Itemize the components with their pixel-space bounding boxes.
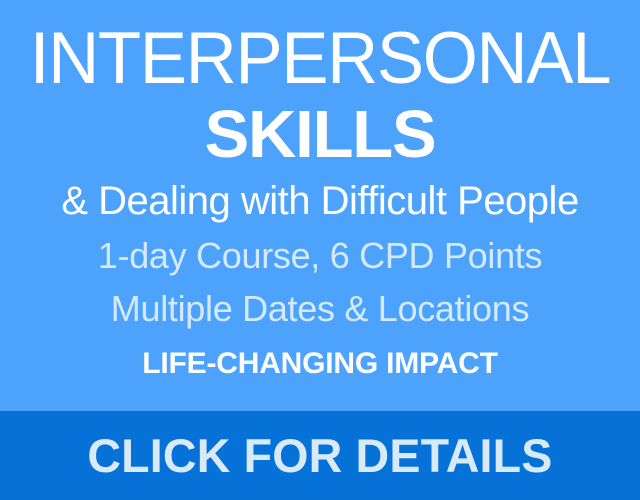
cta-button[interactable]: CLICK FOR DETAILS [0, 411, 640, 500]
ad-subheadline: & Dealing with Difficult People [0, 181, 640, 221]
headline-line-1: INTERPERSONAL [10, 22, 631, 95]
ad-copy-block: INTERPERSONAL SKILLS & Dealing with Diff… [0, 0, 640, 411]
headline-line-2: SKILLS [0, 101, 640, 168]
detail-line-dates-locations: Multiple Dates & Locations [0, 291, 640, 327]
detail-line-course-duration: 1-day Course, 6 CPD Points [0, 238, 640, 274]
course-advertisement-banner[interactable]: INTERPERSONAL SKILLS & Dealing with Diff… [0, 0, 640, 500]
ad-tagline: LIFE-CHANGING IMPACT [0, 349, 640, 379]
cta-button-label: CLICK FOR DETAILS [87, 432, 552, 479]
